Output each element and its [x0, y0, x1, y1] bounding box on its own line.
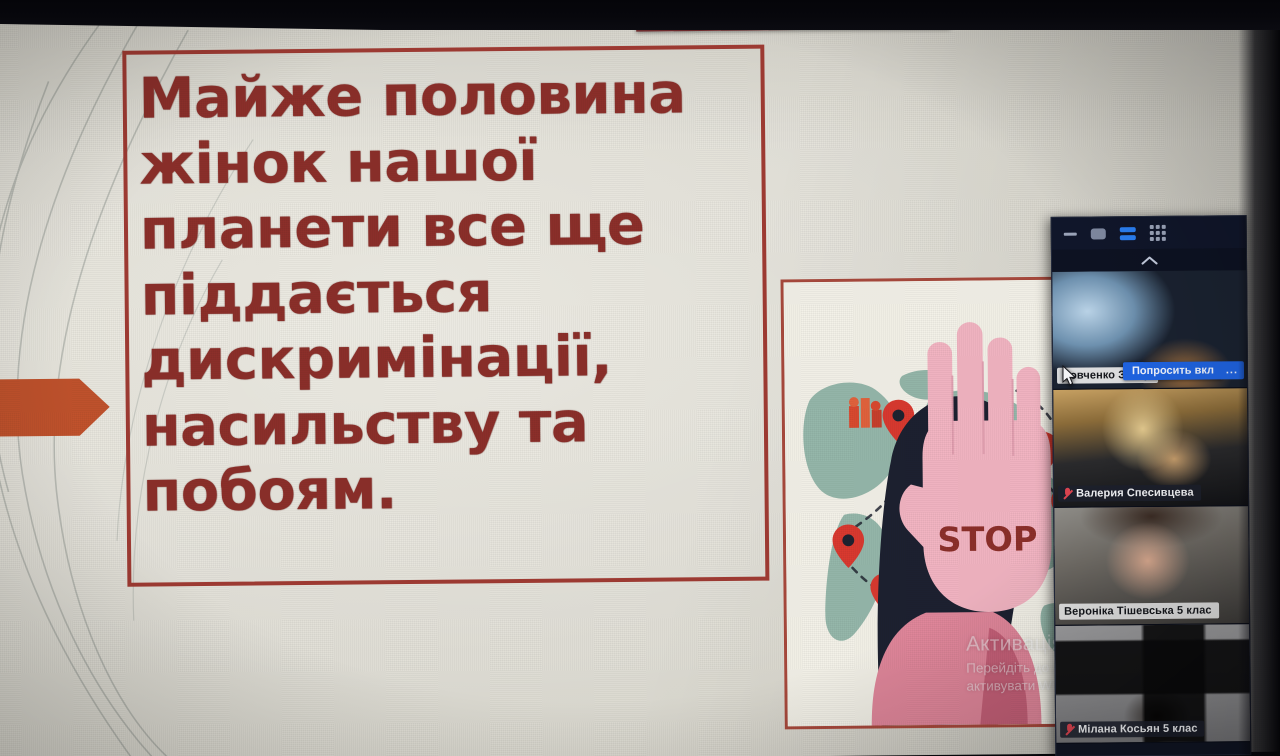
- ask-to-unmute-button[interactable]: Попросить вкл: [1123, 361, 1223, 380]
- participant-name: Валерия Спесивцева: [1076, 487, 1194, 500]
- video-strip-header: [1052, 216, 1246, 250]
- minimize-button[interactable]: [1064, 232, 1077, 235]
- participant-tile[interactable]: Мілана Косьян 5 клас: [1055, 624, 1250, 744]
- speaker-view-button[interactable]: [1091, 228, 1106, 239]
- gallery-grid-icon: [1150, 225, 1166, 241]
- mic-muted-icon: [1063, 488, 1072, 500]
- minimize-icon: [1064, 232, 1077, 235]
- stop-label: STOP: [937, 519, 1037, 559]
- screenshot-root: Майже половина жінок нашої планети все щ…: [0, 0, 1280, 756]
- strip-view-icon: [1120, 227, 1136, 240]
- participant-name-tag: Вероніка Тішевська 5 клас: [1059, 602, 1219, 619]
- slide-title: Майже половина жінок нашої планети все щ…: [138, 61, 742, 525]
- mic-muted-icon: [1065, 724, 1074, 736]
- mouse-pointer-icon: [1062, 365, 1078, 387]
- participant-tile[interactable]: Вовченко Захар Попросить вкл ...: [1052, 270, 1247, 390]
- participant-name-tag: Мілана Косьян 5 клас: [1060, 721, 1205, 738]
- single-view-icon: [1091, 228, 1106, 239]
- participant-name: Вероніка Тішевська 5 клас: [1064, 604, 1212, 617]
- participant-tile[interactable]: Валерия Спесивцева: [1053, 388, 1248, 508]
- participant-name-tag: Валерия Спесивцева: [1058, 485, 1201, 502]
- monitor-bezel-top: [0, 0, 1280, 30]
- chevron-up-icon: [1140, 255, 1157, 264]
- video-strip-panel: Вовченко Захар Попросить вкл ... Валерия…: [1051, 215, 1252, 756]
- participant-tile[interactable]: Вероніка Тішевська 5 клас: [1054, 506, 1249, 626]
- gallery-view-button[interactable]: [1150, 225, 1166, 241]
- collapse-strip-button[interactable]: [1052, 248, 1246, 272]
- strip-view-button[interactable]: [1120, 227, 1136, 240]
- more-options-button[interactable]: ...: [1220, 361, 1244, 379]
- participant-name: Мілана Косьян 5 клас: [1078, 723, 1198, 736]
